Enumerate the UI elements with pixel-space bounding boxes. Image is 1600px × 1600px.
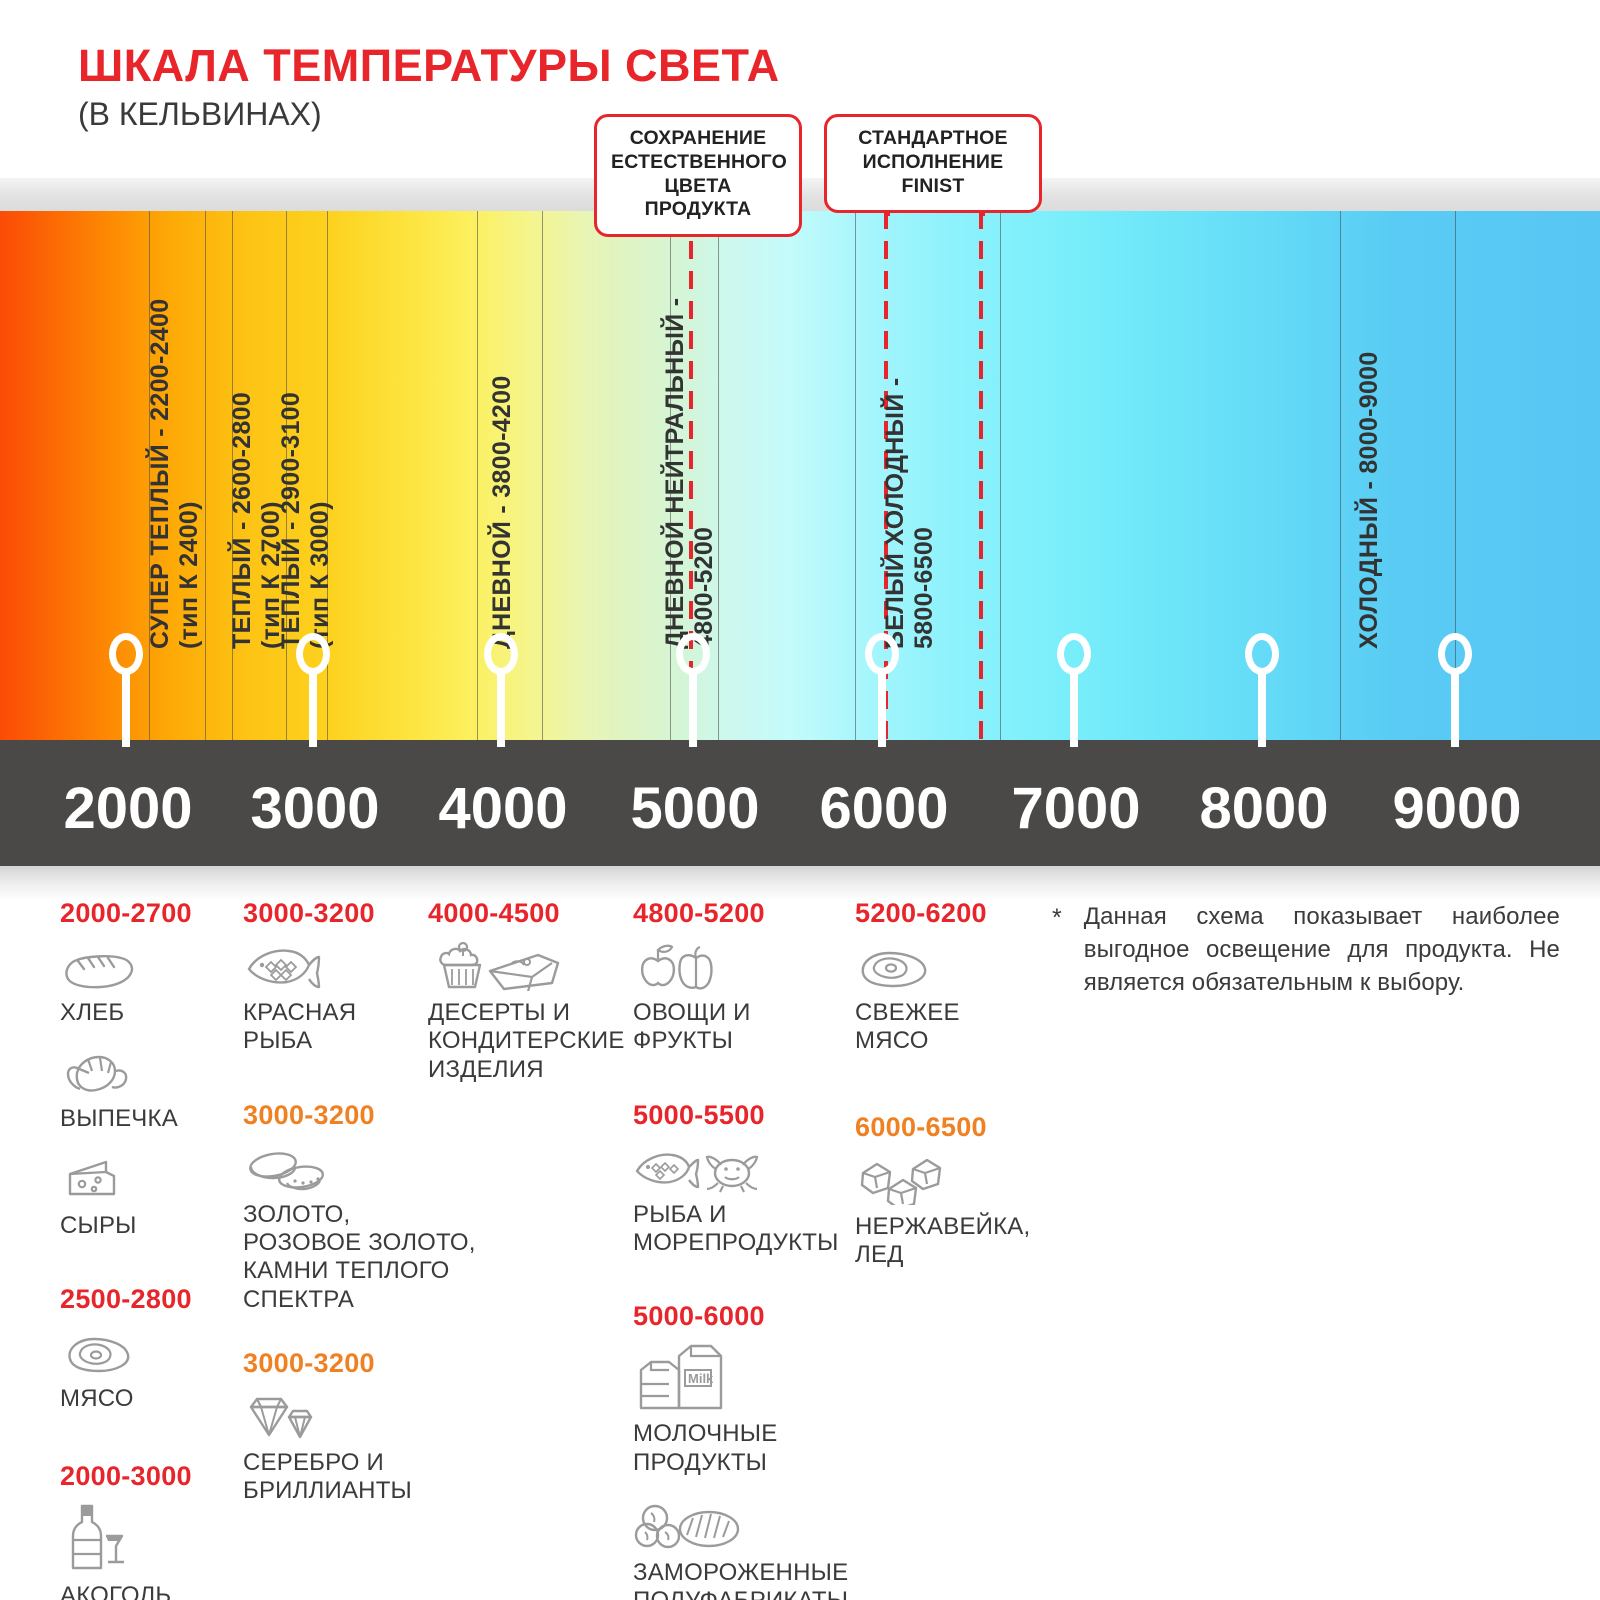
frozen-food-icon: [633, 1501, 863, 1551]
footnote-text: Данная схема показывает наиболее выгодно…: [1084, 900, 1560, 999]
band-label-daylight: ДНЕВНОЙ - 3800-4200: [488, 375, 517, 649]
band-label-warm-3000: ТЕПЛЫЙ - 2900-3100: [277, 392, 306, 649]
legend-item-label: СЕРЕБРО И БРИЛЛИАНТЫ: [243, 1449, 493, 1506]
legend-item-label: МЯСО: [60, 1385, 230, 1413]
band-label-super-warm-type: (тип К 2400): [175, 501, 204, 649]
legend-item-label: ЗОЛОТО, РОЗОВОЕ ЗОЛОТО, КАМНИ ТЕПЛОГО СП…: [243, 1201, 493, 1314]
legend-group: 2500-2800 МЯСО: [60, 1284, 230, 1413]
steak-icon: [60, 1325, 230, 1377]
band-divider: [542, 211, 543, 740]
legend-item-label: ЗАМОРОЖЕННЫЕ ПОЛУФАБРИКАТЫ: [633, 1559, 863, 1600]
gold-rings-icon: [243, 1141, 493, 1193]
band-divider: [205, 211, 206, 740]
callout-line: ИСПОЛНЕНИЕ: [841, 151, 1025, 175]
legend-group: 2000-2700 ХЛЕБ ВЫПЕЧКА: [60, 898, 230, 1240]
legend-range: 2500-2800: [60, 1284, 230, 1315]
legend-range: 2000-3000: [60, 1461, 230, 1492]
band-label-cold: ХОЛОДНЫЙ - 8000-9000: [1355, 351, 1384, 649]
legend-item-label: ВЫПЕЧКА: [60, 1105, 230, 1133]
callout-finist-standard: СТАНДАРТНОЕ ИСПОЛНЕНИЕ FINIST: [824, 114, 1042, 213]
callout-line: ЦВЕТА ПРОДУКТА: [611, 175, 785, 223]
legend-group: 4800-5200 ОВОЩИ И ФРУКТЫ: [633, 898, 863, 1056]
fruits-vegetables-icon: [633, 939, 863, 991]
legend-group: 3000-3200 СЕРЕБРО И БРИЛЛИАНТЫ: [243, 1348, 493, 1506]
legend-range: 5200-6200: [855, 898, 1045, 929]
legend-group: 5000-5500 РЫБА И МОРЕПРОДУКТЫ: [633, 1100, 863, 1258]
scale-bar: [0, 740, 1600, 866]
legend-group: 2000-3000 АКОГОЛЬ: [60, 1461, 230, 1600]
pin-stem: [689, 669, 697, 747]
legend-range: 5000-5500: [633, 1100, 863, 1131]
legend-column-3: 4000-4500 ДЕСЕРТЫ И КОНДИТЕРСКИЕ ИЗ: [428, 898, 626, 1110]
legend-range: 5000-6000: [633, 1301, 863, 1332]
band-label-warm-2700: ТЕПЛЫЙ - 2600-2800: [228, 392, 257, 649]
legend-item-label: ОВОЩИ И ФРУКТЫ: [633, 999, 863, 1056]
band-divider: [477, 211, 478, 740]
callout-line: FINIST: [841, 175, 1025, 199]
svg-text:Milk: Milk: [688, 1371, 714, 1386]
scale-number-6000: 6000: [819, 775, 948, 842]
pin-stem: [122, 669, 130, 747]
dessert-icon: [428, 939, 626, 991]
footnote-marker: *: [1052, 900, 1062, 999]
legend-item-label: МОЛОЧНЫЕ ПРОДУКТЫ: [633, 1420, 863, 1477]
legend-range: 3000-3200: [243, 1348, 493, 1379]
scale-number-7000: 7000: [1011, 775, 1140, 842]
seafood-icon: [633, 1141, 863, 1193]
pin-stem: [1258, 669, 1266, 747]
legend-item-label: АКОГОЛЬ: [60, 1582, 230, 1600]
infographic-root: ШКАЛА ТЕМПЕРАТУРЫ СВЕТА (В КЕЛЬВИНАХ) СО…: [0, 0, 1600, 1600]
page-subtitle: (В КЕЛЬВИНАХ): [78, 96, 322, 133]
page-title: ШКАЛА ТЕМПЕРАТУРЫ СВЕТА: [78, 40, 780, 92]
band-label-daylight-neutral-range: 4800-5200: [690, 527, 719, 649]
callout-line: ЕСТЕСТВЕННОГО: [611, 151, 785, 175]
legend-item-label: ХЛЕБ: [60, 999, 230, 1027]
pin-stem: [497, 669, 505, 747]
legend-column-1: 2000-2700 ХЛЕБ ВЫПЕЧКА: [60, 898, 230, 1600]
legend-item-label: ДЕСЕРТЫ И КОНДИТЕРСКИЕ ИЗДЕЛИЯ: [428, 999, 626, 1084]
pin-stem: [878, 669, 886, 747]
legend-group: 5200-6200 СВЕЖЕЕ МЯСО: [855, 898, 1045, 1056]
croissant-icon: [60, 1045, 230, 1097]
band-label-cool-white: БЕЛЫЙ ХОЛОДНЫЙ -: [881, 378, 910, 649]
scale-bar-shadow: [0, 866, 1600, 900]
diamond-icon: [243, 1389, 493, 1441]
legend-column-5: 5200-6200 СВЕЖЕЕ МЯСО 6000-6500: [855, 898, 1045, 1295]
footnote: * Данная схема показывает наиболее выгод…: [1052, 900, 1560, 999]
legend-range: 2000-2700: [60, 898, 230, 929]
legend-item-label: РЫБА И МОРЕПРОДУКТЫ: [633, 1201, 863, 1258]
milk-icon: Milk: [633, 1342, 863, 1412]
legend-group: 5000-6000 Milk МОЛОЧНЫЕ ПРОДУКТЫ: [633, 1301, 863, 1600]
dashed-guide-6500: [979, 211, 983, 740]
band-label-super-warm: СУПЕР ТЕПЛЫЙ - 2200-2400: [146, 299, 175, 649]
scale-number-2000: 2000: [63, 775, 192, 842]
ice-cubes-icon: [855, 1153, 1045, 1205]
band-divider: [1000, 211, 1001, 740]
legend-range: 4800-5200: [633, 898, 863, 929]
scale-number-4000: 4000: [438, 775, 567, 842]
bread-icon: [60, 939, 230, 991]
callout-line: СОХРАНЕНИЕ: [611, 127, 785, 151]
legend-range: 6000-6500: [855, 1112, 1045, 1143]
band-divider: [855, 211, 856, 740]
legend-item-label: СВЕЖЕЕ МЯСО: [855, 999, 1045, 1056]
legend-column-4: 4800-5200 ОВОЩИ И ФРУКТЫ 5000-5500: [633, 898, 863, 1600]
band-label-daylight-neutral: ДНЕВНОЙ НЕЙТРАЛЬНЫЙ -: [661, 298, 690, 649]
pin-stem: [309, 669, 317, 747]
scale-number-5000: 5000: [630, 775, 759, 842]
legend-item-label: СЫРЫ: [60, 1212, 230, 1240]
scale-number-8000: 8000: [1199, 775, 1328, 842]
fresh-meat-icon: [855, 939, 1045, 991]
band-divider: [1340, 211, 1341, 740]
band-label-warm-3000-type: (тип К 3000): [306, 501, 335, 649]
legend-item-label: НЕРЖАВЕЙКА, ЛЕД: [855, 1213, 1045, 1270]
band-divider: [718, 211, 719, 740]
cheese-icon: [60, 1152, 230, 1204]
scale-number-3000: 3000: [250, 775, 379, 842]
legend-group: 4000-4500 ДЕСЕРТЫ И КОНДИТЕРСКИЕ ИЗ: [428, 898, 626, 1084]
band-label-cool-white-range: 5800-6500: [910, 527, 939, 649]
legend-group: 3000-3200 ЗОЛОТО, РОЗОВОЕ ЗОЛОТО, КАМНИ …: [243, 1100, 493, 1314]
pin-stem: [1451, 669, 1459, 747]
alcohol-icon: [60, 1502, 230, 1574]
scale-number-9000: 9000: [1392, 775, 1521, 842]
pin-stem: [1070, 669, 1078, 747]
callout-line: СТАНДАРТНОЕ: [841, 127, 1025, 151]
legend-range: 4000-4500: [428, 898, 626, 929]
legend-group: 6000-6500 НЕРЖАВЕЙКА, ЛЕД: [855, 1112, 1045, 1270]
callout-natural-color: СОХРАНЕНИЕ ЕСТЕСТВЕННОГО ЦВЕТА ПРОДУКТА: [594, 114, 802, 237]
